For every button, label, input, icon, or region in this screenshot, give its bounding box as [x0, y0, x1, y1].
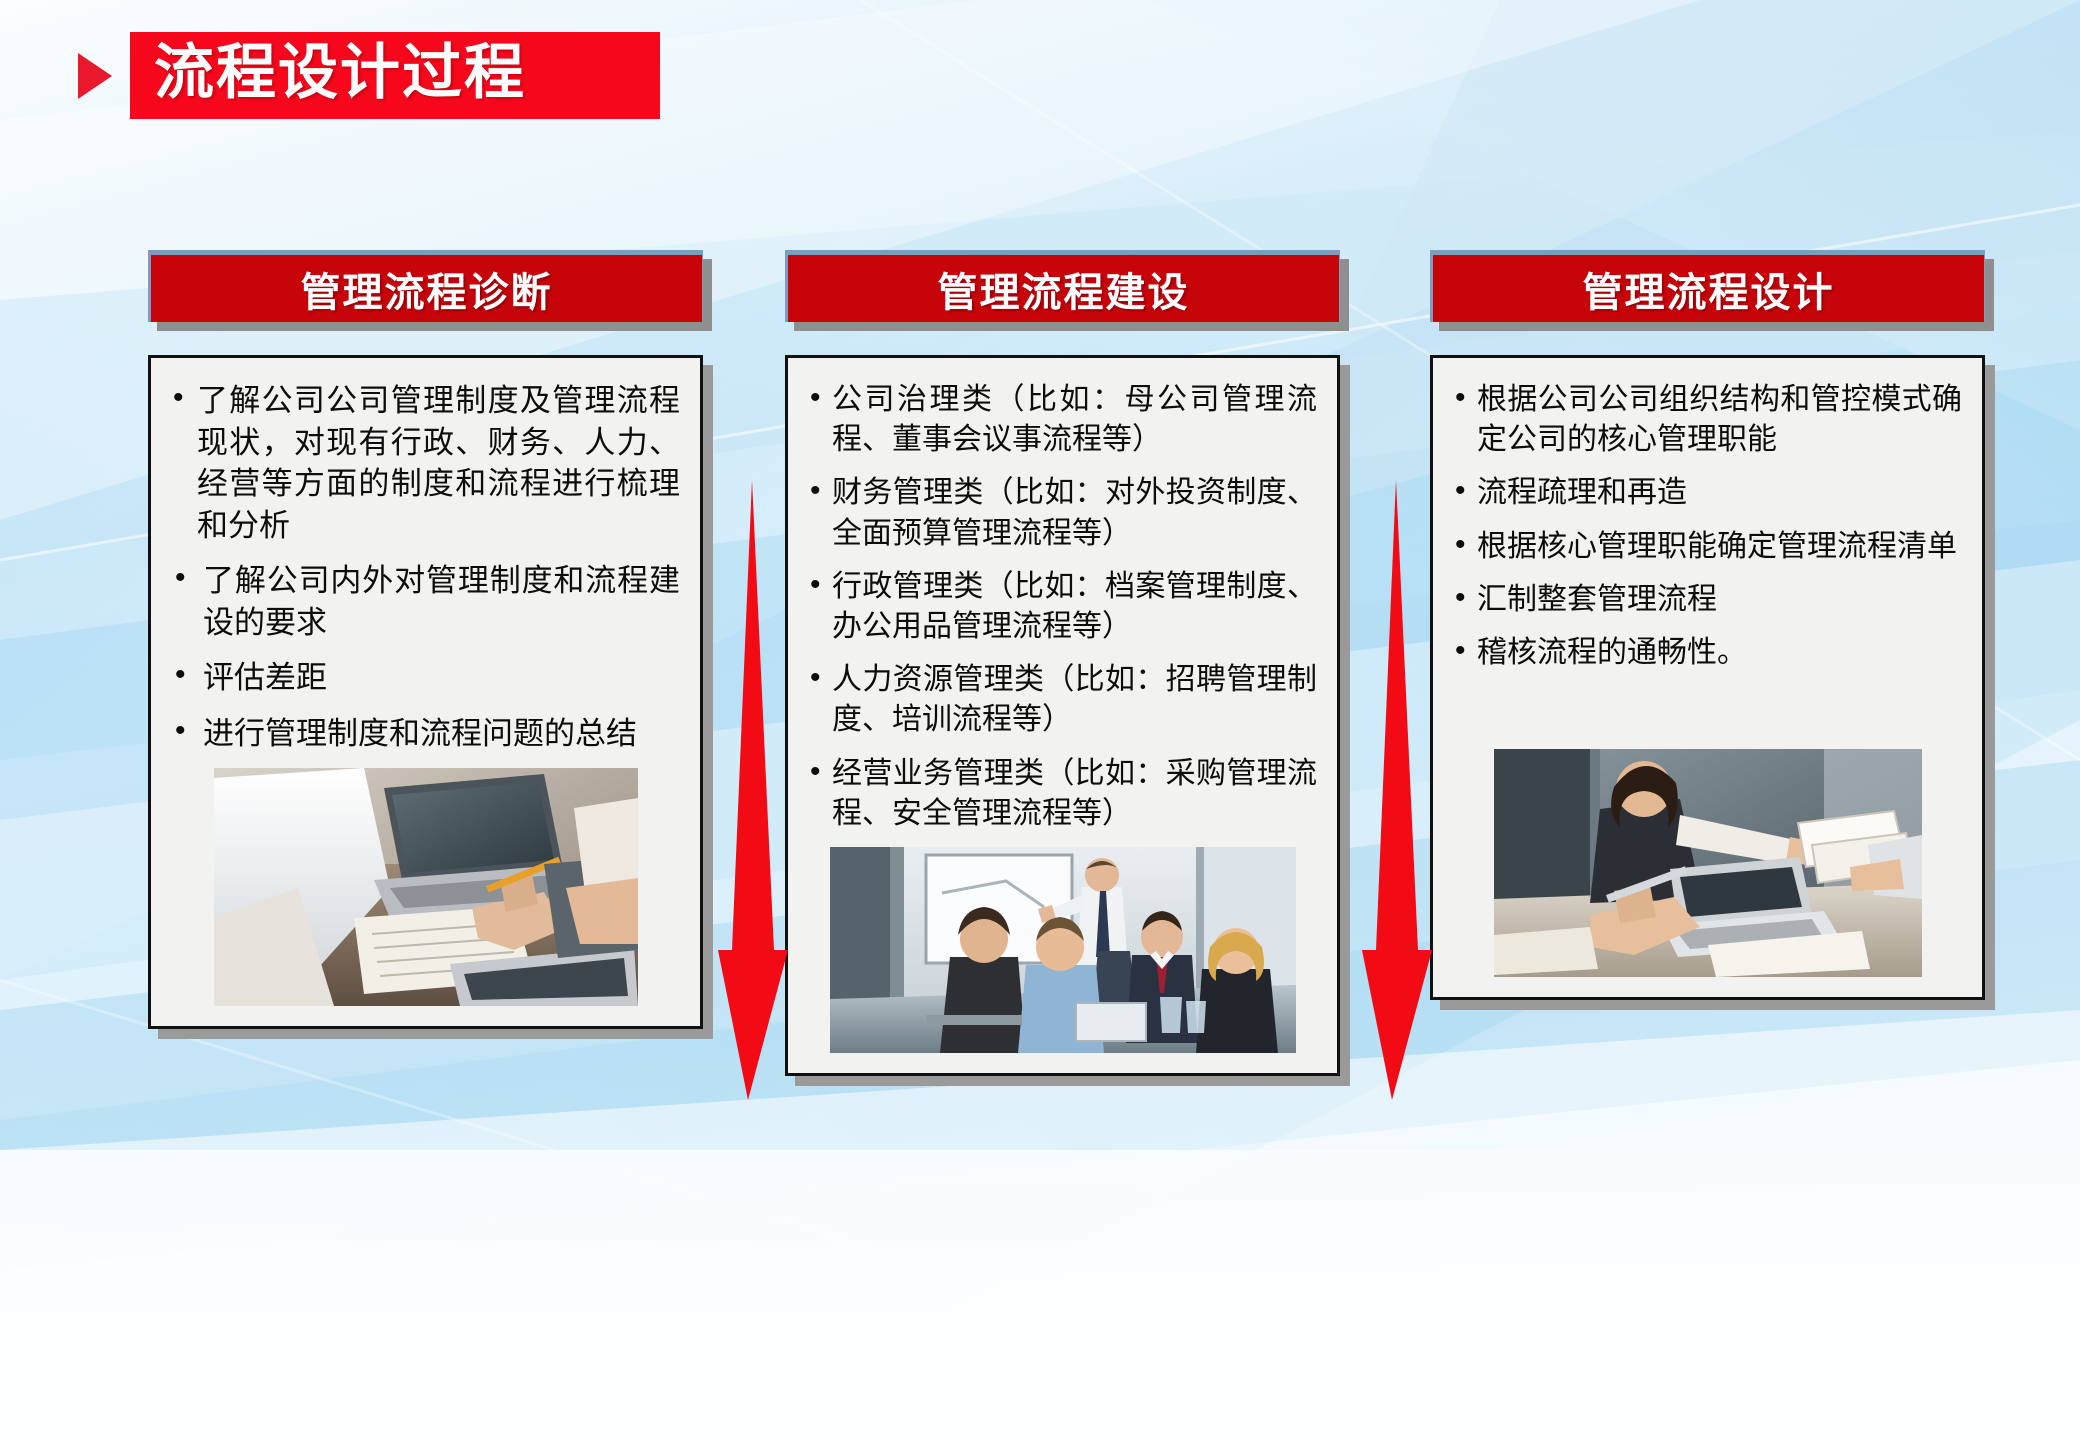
- header-label: 管理流程诊断: [301, 260, 553, 318]
- arrow-diagnosis-to-construction: [712, 480, 792, 1100]
- list-item: 根据核心管理职能确定管理流程清单: [1453, 527, 1962, 567]
- arrow-construction-to-design: [1356, 480, 1436, 1100]
- body-construction: 公司治理类（比如：母公司管理流程、董事会议事流程等） 财务管理类（比如：对外投资…: [785, 355, 1340, 1076]
- slide-title-bar: 流程设计过程: [78, 32, 660, 119]
- column-design: 管理流程设计 根据公司公司组织结构和管控模式确定公司的核心管理职能 流程疏理和再…: [1430, 250, 1985, 1000]
- body-diagnosis: 了解公司公司管理制度及管理流程现状，对现有行政、财务、人力、经营等方面的制度和流…: [148, 355, 703, 1029]
- list-item: 评估差距: [171, 657, 680, 699]
- list-item: 根据公司公司组织结构和管控模式确定公司的核心管理职能: [1453, 380, 1962, 460]
- triangle-right-icon: [78, 53, 112, 99]
- page-title: 流程设计过程: [154, 38, 614, 107]
- bullet-list-diagnosis: 了解公司公司管理制度及管理流程现状，对现有行政、财务、人力、经营等方面的制度和流…: [171, 380, 680, 768]
- list-item: 了解公司公司管理制度及管理流程现状，对现有行政、财务、人力、经营等方面的制度和流…: [171, 380, 680, 546]
- list-item: 公司治理类（比如：母公司管理流程、董事会议事流程等）: [808, 380, 1317, 460]
- list-item: 了解公司内外对管理制度和流程建设的要求: [171, 560, 680, 643]
- bullet-list-construction: 公司治理类（比如：母公司管理流程、董事会议事流程等） 财务管理类（比如：对外投资…: [808, 380, 1317, 847]
- column-construction: 管理流程建设 公司治理类（比如：母公司管理流程、董事会议事流程等） 财务管理类（…: [785, 250, 1340, 1076]
- header-construction[interactable]: 管理流程建设: [785, 250, 1340, 322]
- header-label: 管理流程建设: [938, 260, 1190, 318]
- list-item: 汇制整套管理流程: [1453, 580, 1962, 620]
- photo-laptop-and-documents: [214, 768, 638, 1006]
- list-item: 行政管理类（比如：档案管理制度、办公用品管理流程等）: [808, 567, 1317, 647]
- column-diagnosis: 管理流程诊断 了解公司公司管理制度及管理流程现状，对现有行政、财务、人力、经营等…: [148, 250, 703, 1029]
- header-label: 管理流程设计: [1583, 260, 1835, 318]
- body-wrap-construction: 公司治理类（比如：母公司管理流程、董事会议事流程等） 财务管理类（比如：对外投资…: [785, 355, 1340, 1076]
- header-wrap-design: 管理流程设计: [1430, 250, 1985, 322]
- header-design[interactable]: 管理流程设计: [1430, 250, 1985, 322]
- header-wrap-diagnosis: 管理流程诊断: [148, 250, 703, 322]
- header-diagnosis[interactable]: 管理流程诊断: [148, 250, 703, 322]
- list-item: 经营业务管理类（比如：采购管理流程、安全管理流程等）: [808, 754, 1317, 834]
- header-wrap-construction: 管理流程建设: [785, 250, 1340, 322]
- body-wrap-diagnosis: 了解公司公司管理制度及管理流程现状，对现有行政、财务、人力、经营等方面的制度和流…: [148, 355, 703, 1029]
- body-wrap-design: 根据公司公司组织结构和管控模式确定公司的核心管理职能 流程疏理和再造 根据核心管…: [1430, 355, 1985, 1000]
- photo-team-working: [1494, 749, 1922, 977]
- process-columns: 管理流程诊断 了解公司公司管理制度及管理流程现状，对现有行政、财务、人力、经营等…: [0, 0, 2080, 1440]
- list-item: 财务管理类（比如：对外投资制度、全面预算管理流程等）: [808, 473, 1317, 553]
- photo-business-meeting: [830, 847, 1296, 1053]
- bullet-list-design: 根据公司公司组织结构和管控模式确定公司的核心管理职能 流程疏理和再造 根据核心管…: [1453, 380, 1962, 686]
- list-item: 流程疏理和再造: [1453, 473, 1962, 513]
- list-item: 稽核流程的通畅性。: [1453, 633, 1962, 673]
- list-item: 进行管理制度和流程问题的总结: [171, 713, 680, 755]
- list-item: 人力资源管理类（比如：招聘管理制度、培训流程等）: [808, 660, 1317, 740]
- title-box: 流程设计过程: [130, 32, 660, 119]
- body-design: 根据公司公司组织结构和管控模式确定公司的核心管理职能 流程疏理和再造 根据核心管…: [1430, 355, 1985, 1000]
